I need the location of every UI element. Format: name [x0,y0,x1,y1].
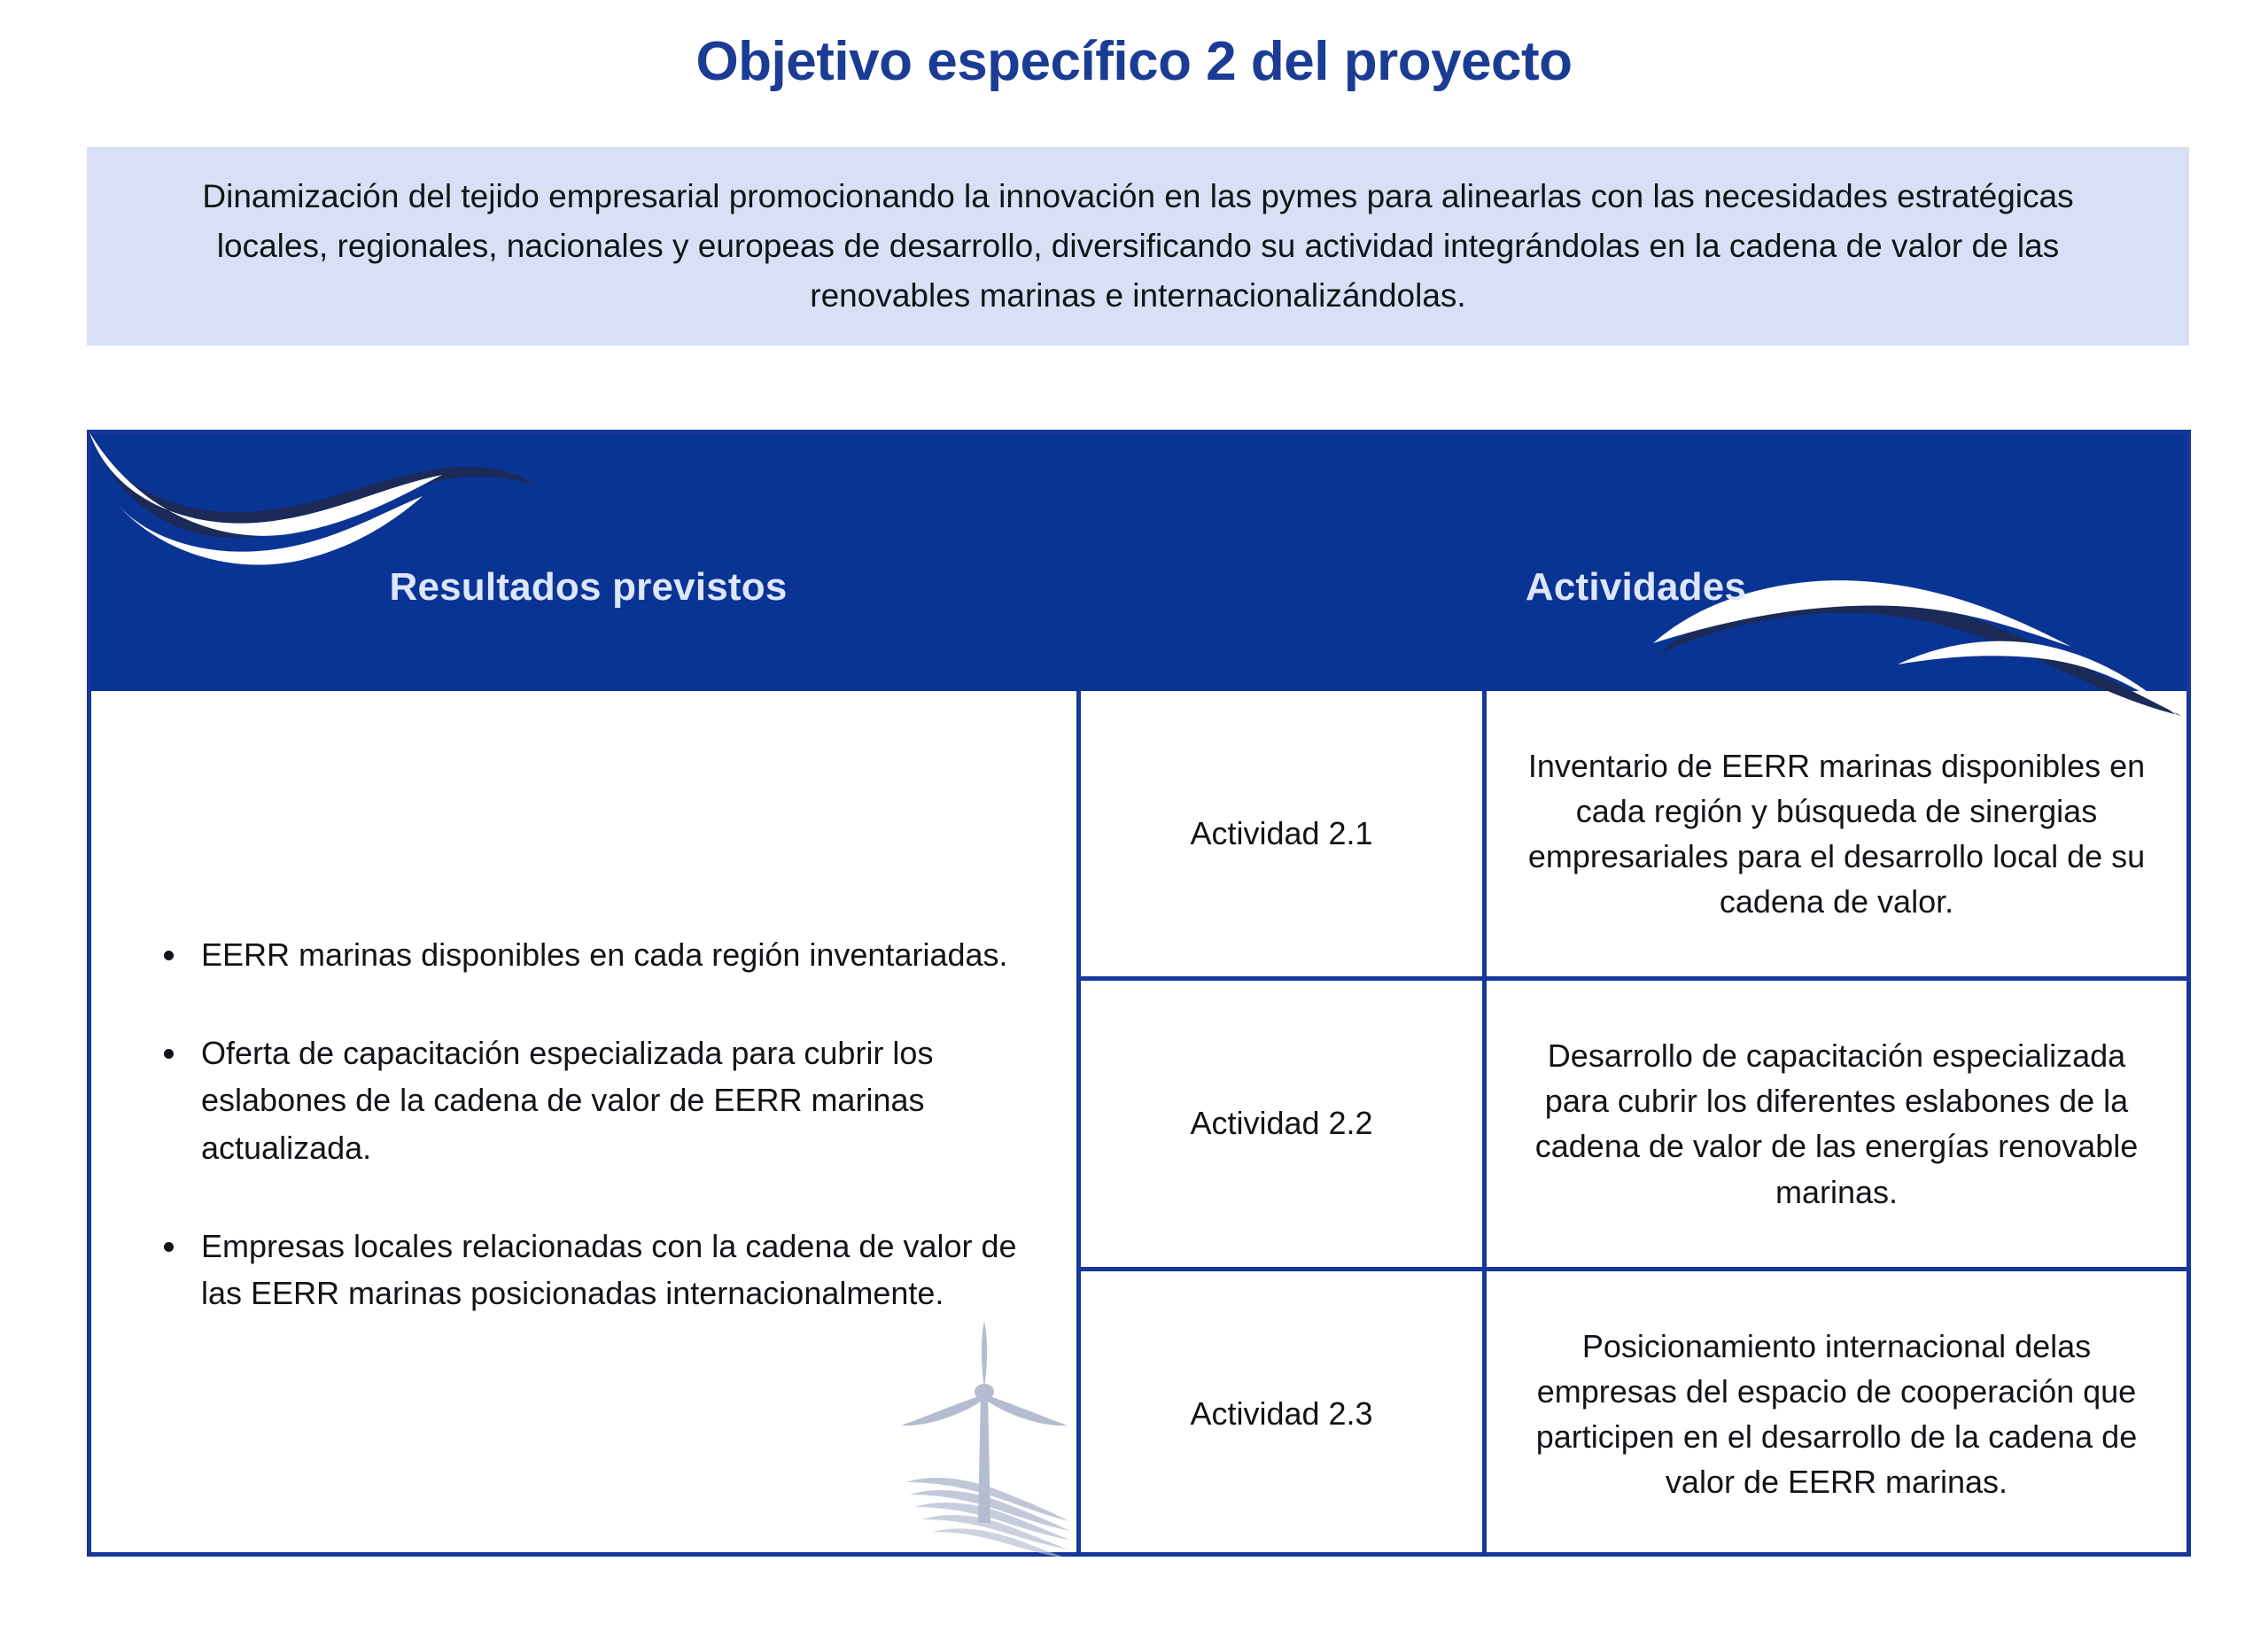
activity-description: Posicionamiento internacional delas empr… [1487,1271,2186,1557]
table-row: Actividad 2.1 Inventario de EERR marinas… [1081,691,2186,981]
objective-description-text: Dinamización del tejido empresarial prom… [193,172,2083,322]
header-cell-results: Resultados previstos [91,516,1085,610]
objective-description-panel: Dinamización del tejido empresarial prom… [87,147,2189,346]
table-body: EERR marinas disponibles en cada región … [91,691,2186,1557]
list-item: EERR marinas disponibles en cada región … [155,931,1036,978]
header-label-activities: Actividades [1526,565,1746,609]
list-item: Oferta de capacitación especializada par… [155,1029,1036,1171]
table-header-band: Resultados previstos Actividades [91,434,2186,691]
activity-code: Actividad 2.1 [1081,691,1487,976]
activity-code: Actividad 2.3 [1081,1271,1487,1557]
activity-code: Actividad 2.2 [1081,981,1487,1266]
activities-column: Actividad 2.1 Inventario de EERR marinas… [1081,691,2186,1557]
table-row: Actividad 2.2 Desarrollo de capacitación… [1081,981,2186,1270]
page-title: Objetivo específico 2 del proyecto [0,32,2268,92]
slide-page: Objetivo específico 2 del proyecto Dinam… [0,0,2268,1639]
wind-turbine-icon [896,1317,1073,1557]
table-header-labels: Resultados previstos Actividades [91,434,2186,691]
table-row: Actividad 2.3 Posicionamiento internacio… [1081,1271,2186,1557]
results-list: EERR marinas disponibles en cada región … [91,931,1076,1317]
header-cell-activities: Actividades [1085,516,2186,610]
header-label-results: Resultados previstos [389,565,787,609]
results-column: EERR marinas disponibles en cada región … [91,691,1081,1557]
results-activities-table: Resultados previstos Actividades EERR ma… [87,430,2191,1557]
activity-description: Desarrollo de capacitación especializada… [1487,981,2186,1266]
list-item: Empresas locales relacionadas con la cad… [155,1223,1036,1317]
activity-description: Inventario de EERR marinas disponibles e… [1487,691,2186,976]
